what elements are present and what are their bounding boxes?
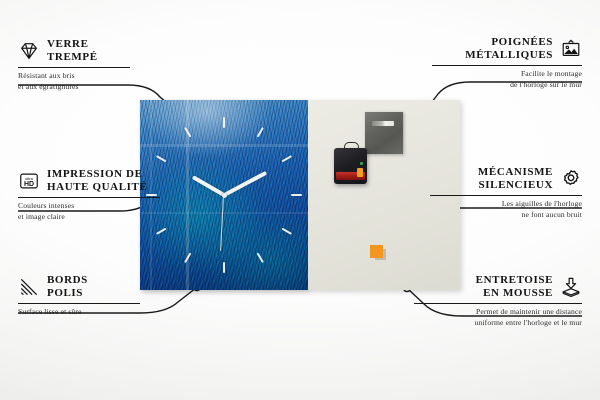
hanger-keyhole-slot	[372, 121, 394, 126]
desc-line-2: de l'horloge sur le mur	[432, 80, 582, 90]
desc-line-2: ne font aucun bruit	[430, 210, 582, 220]
desc-line-2: et image claire	[18, 212, 160, 222]
callout-divider	[18, 197, 160, 198]
diagonal-lines-icon	[18, 276, 40, 298]
callout-divider	[18, 303, 140, 304]
callout-divider	[18, 67, 130, 68]
arrow-onto-pad-icon	[560, 276, 582, 298]
gear-icon	[560, 168, 582, 190]
callout-header: BORDS POLIS	[18, 274, 140, 300]
callout-description: Permet de maintenir une distance uniform…	[414, 307, 582, 328]
desc-line-1: Résistant aux bris	[18, 71, 130, 81]
desc-line-2: uniforme entre l'horloge et le mur	[414, 318, 582, 328]
callout-description: Résistant aux bris et aux égratignures	[18, 71, 130, 92]
callout-title: IMPRESSION DE HAUTE QUALITÉ	[47, 168, 147, 194]
desc-line-1: Couleurs intenses	[18, 201, 160, 211]
clock-center-hub	[222, 193, 227, 198]
clock-mechanism	[334, 148, 367, 184]
desc-line-1: Les aiguilles de l'horloge	[430, 199, 582, 209]
diamond-icon	[18, 40, 40, 62]
clock-front-view	[140, 100, 308, 290]
hour-tick	[156, 228, 167, 235]
mechanism-hanger-loop	[344, 142, 359, 151]
callout-divider	[430, 195, 582, 196]
callout-header: ENTRETOISE EN MOUSSE	[414, 274, 582, 300]
hour-tick	[282, 228, 293, 235]
callout-title: BORDS POLIS	[47, 274, 88, 300]
title-line-1: POIGNÉES	[465, 36, 553, 49]
title-line-2: EN MOUSSE	[476, 287, 553, 300]
callout-header: MÉCANISME SILENCIEUX	[430, 166, 582, 192]
callout-polished-edges: BORDS POLIS Surface lisse et sûre	[18, 274, 140, 318]
hour-tick	[257, 253, 264, 264]
title-line-2: POLIS	[47, 287, 88, 300]
mechanism-indicator-dot	[360, 162, 363, 165]
callout-divider	[432, 65, 582, 66]
hour-tick	[184, 127, 191, 138]
callout-title: VERRE TREMPÉ	[47, 38, 98, 64]
title-line-2: HAUTE QUALITÉ	[47, 181, 147, 194]
foam-spacer-pad	[370, 245, 383, 258]
callout-header: VERRE TREMPÉ	[18, 38, 130, 64]
callout-header: POIGNÉES MÉTALLIQUES	[432, 36, 582, 62]
metal-hanger-plate	[365, 112, 403, 154]
infographic-stage: VERRE TREMPÉ Résistant aux bris et aux é…	[0, 0, 600, 400]
hour-tick	[257, 127, 264, 138]
hour-tick	[223, 117, 225, 128]
callout-high-quality-print: ultra HD IMPRESSION DE HAUTE QUALITÉ Cou…	[18, 168, 160, 222]
callout-tempered-glass: VERRE TREMPÉ Résistant aux bris et aux é…	[18, 38, 130, 92]
clock-face	[140, 100, 308, 290]
battery-plus-terminal	[357, 168, 363, 177]
hanging-picture-icon	[560, 38, 582, 60]
callout-description: Surface lisse et sûre	[18, 307, 140, 317]
hour-hand	[192, 175, 225, 196]
minute-hand	[223, 171, 267, 197]
battery	[336, 172, 365, 180]
callout-header: ultra HD IMPRESSION DE HAUTE QUALITÉ	[18, 168, 160, 194]
ultra-hd-badge-icon: ultra HD	[18, 170, 40, 192]
callout-title: MÉCANISME SILENCIEUX	[478, 166, 553, 192]
hour-tick	[156, 155, 167, 162]
title-line-1: VERRE	[47, 38, 98, 51]
callout-divider	[414, 303, 582, 304]
callout-description: Facilite le montage de l'horloge sur le …	[432, 69, 582, 90]
title-line-2: SILENCIEUX	[478, 179, 553, 192]
title-line-1: IMPRESSION DE	[47, 168, 147, 181]
desc-line-2: et aux égratignures	[18, 82, 130, 92]
callout-title: POIGNÉES MÉTALLIQUES	[465, 36, 553, 62]
hour-tick	[223, 262, 225, 273]
callout-description: Les aiguilles de l'horloge ne font aucun…	[430, 199, 582, 220]
desc-line-1: Surface lisse et sûre	[18, 307, 140, 317]
title-line-2: MÉTALLIQUES	[465, 49, 553, 62]
callout-silent-mechanism: MÉCANISME SILENCIEUX Les aiguilles de l'…	[430, 166, 582, 220]
desc-line-1: Permet de maintenir une distance	[414, 307, 582, 317]
title-line-1: MÉCANISME	[478, 166, 553, 179]
title-line-1: BORDS	[47, 274, 88, 287]
callout-foam-spacer: ENTRETOISE EN MOUSSE Permet de maintenir…	[414, 274, 582, 328]
svg-text:HD: HD	[24, 181, 34, 188]
callout-description: Couleurs intenses et image claire	[18, 201, 160, 222]
title-line-2: TREMPÉ	[47, 51, 98, 64]
callout-metal-handles: POIGNÉES MÉTALLIQUES Facilite le montage…	[432, 36, 582, 90]
desc-line-1: Facilite le montage	[432, 69, 582, 79]
second-hand	[220, 195, 224, 251]
callout-title: ENTRETOISE EN MOUSSE	[476, 274, 553, 300]
hour-tick	[291, 194, 302, 196]
title-line-1: ENTRETOISE	[476, 274, 553, 287]
hour-tick	[282, 155, 293, 162]
hour-tick	[184, 253, 191, 264]
product-image	[140, 100, 460, 290]
